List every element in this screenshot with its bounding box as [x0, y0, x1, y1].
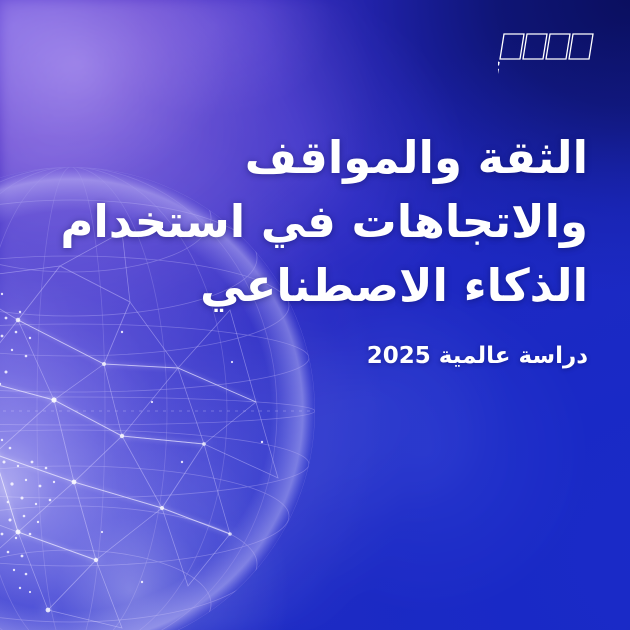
report-cover: KPMG الثقة والمواقف والاتجاهات في استخدا…	[0, 0, 630, 630]
page-subtitle: دراسة عالمية 2025	[28, 342, 588, 372]
page-title-line-3: الذكاء الاصطناعي	[28, 254, 588, 318]
kpmg-logo-parallelograms	[500, 34, 593, 59]
cover-text-block: الثقة والمواقف والاتجاهات في استخدام الذ…	[28, 126, 588, 372]
page-title-line-2: والاتجاهات في استخدام	[28, 190, 588, 254]
kpmg-wordmark: KPMG	[498, 56, 500, 83]
kpmg-logo: KPMG	[498, 31, 595, 83]
page-title-line-1: الثقة والمواقف	[28, 126, 588, 190]
kpmg-logo-svg: KPMG	[498, 31, 595, 83]
